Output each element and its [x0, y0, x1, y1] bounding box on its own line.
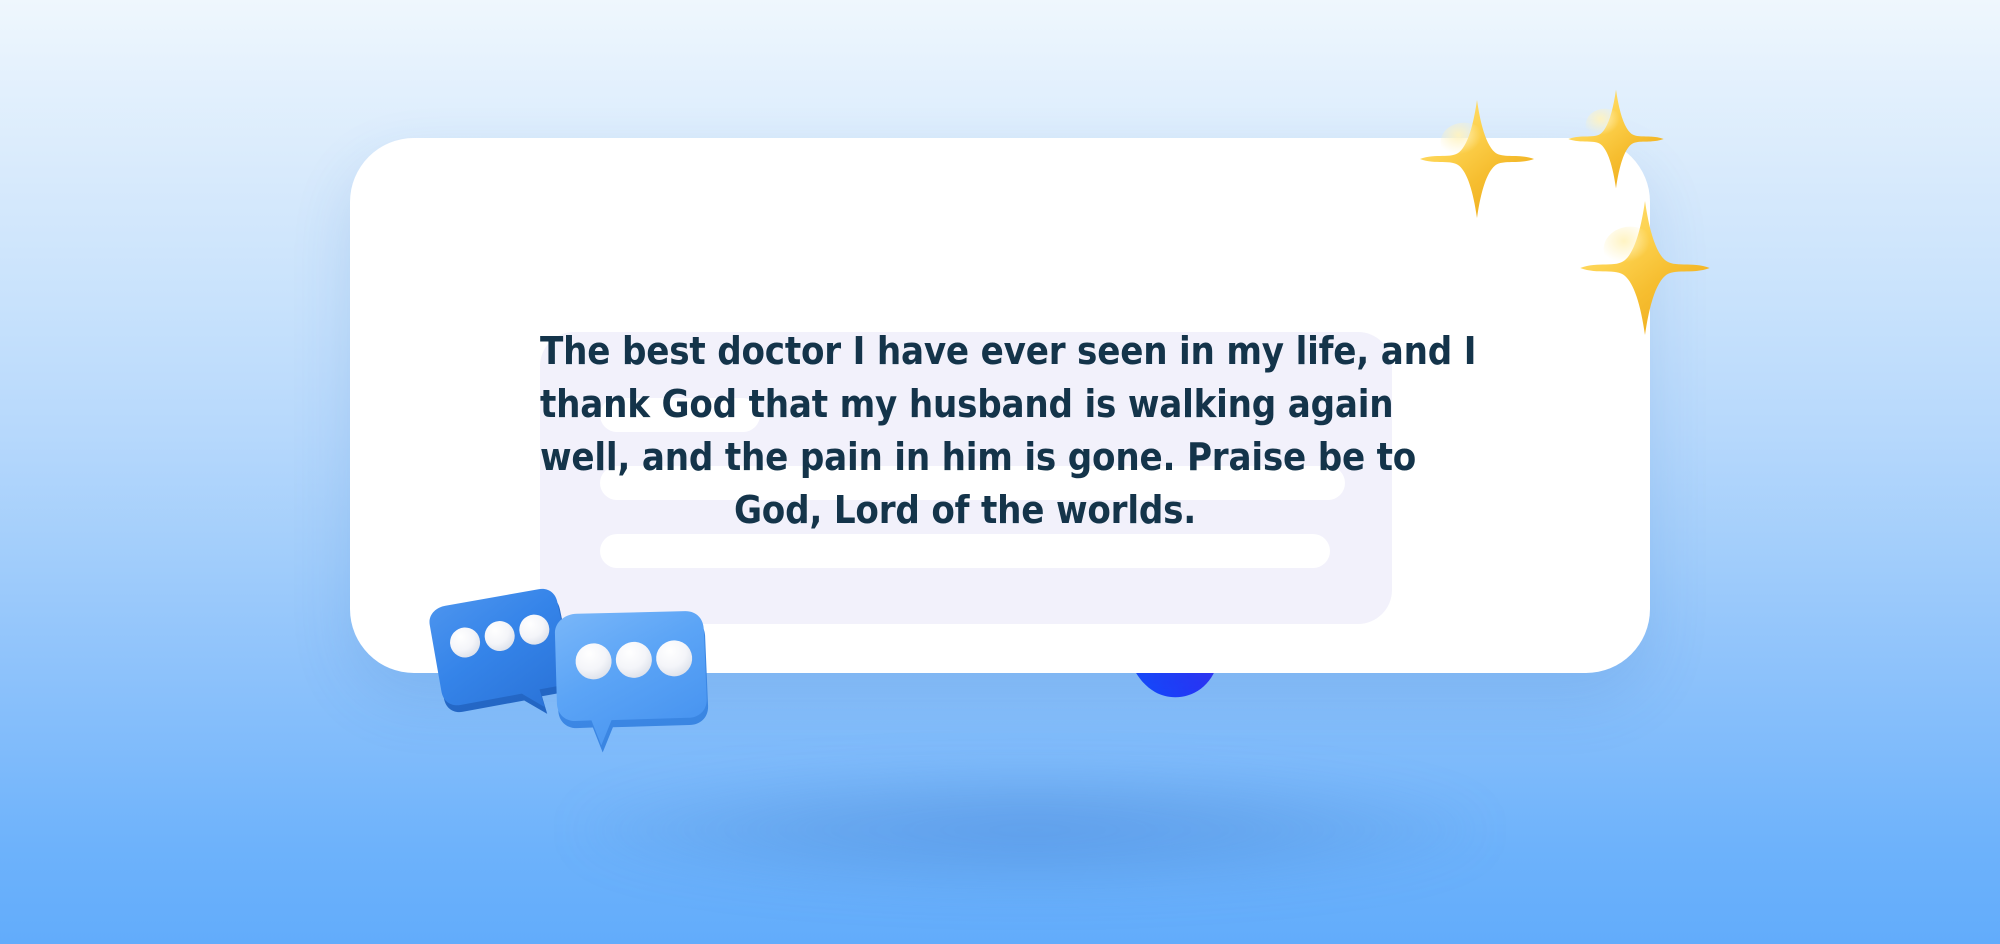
chat-bubble-back	[428, 587, 577, 722]
quote-line-2: thank God that my husband is walking aga…	[540, 378, 1390, 431]
chat-bubbles-group	[430, 585, 750, 765]
chat-bubble-front	[545, 600, 716, 761]
card-ground-shadow	[580, 770, 1480, 890]
quote-line-4: God, Lord of the worlds.	[540, 484, 1390, 537]
quote-line-3: well, and the pain in him is gone. Prais…	[540, 431, 1390, 484]
sparkle-star-3-icon	[1578, 198, 1712, 338]
quote-line-1: The best doctor I have ever seen in my l…	[540, 325, 1390, 378]
sparkle-star-2-icon	[1566, 88, 1666, 190]
skeleton-bar-3	[600, 534, 1330, 568]
sparkle-star-1-icon	[1418, 98, 1536, 220]
testimonial-graphic: The best doctor I have ever seen in my l…	[0, 0, 2000, 944]
quote-text: The best doctor I have ever seen in my l…	[540, 325, 1390, 537]
